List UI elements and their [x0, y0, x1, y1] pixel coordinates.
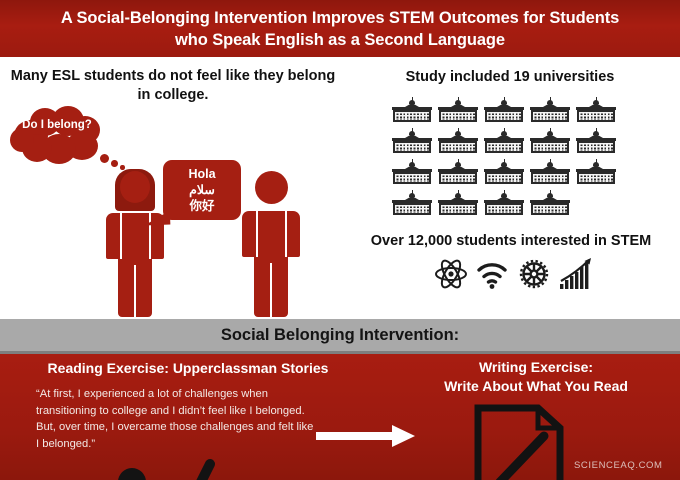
writing-exercise-title: Writing Exercise: Write About What You R… — [400, 358, 672, 396]
university-building-icon — [576, 128, 616, 154]
header-title-line-2: who Speak English as a Second Language — [175, 29, 505, 51]
university-building-icon — [530, 190, 570, 216]
figure-student-plain — [240, 171, 306, 319]
document-with-pencil-icon — [472, 404, 572, 480]
university-building-icon — [576, 159, 616, 185]
university-building-icon — [438, 190, 478, 216]
speech-line-hola: Hola — [163, 166, 241, 182]
intervention-band-title: Social Belonging Intervention: — [221, 326, 459, 345]
esl-heading: Many ESL students do not feel like they … — [8, 67, 338, 105]
gear-icon — [517, 257, 551, 291]
figure-student-with-hair — [104, 169, 170, 319]
university-building-icon — [392, 97, 432, 123]
right-arrow-icon — [316, 424, 416, 453]
universities-heading: Study included 19 universities — [348, 69, 672, 85]
stem-students-heading: Over 12,000 students interested in STEM — [344, 233, 678, 249]
reading-exercise-title: Reading Exercise: Upperclassman Stories — [18, 360, 358, 376]
thought-bubble: Do I belong? — [8, 104, 106, 166]
university-building-icon — [438, 128, 478, 154]
speech-bubble: Hola سلام 你好 — [163, 160, 241, 220]
university-building-icon — [484, 159, 524, 185]
upper-content-area: Many ESL students do not feel like they … — [0, 57, 680, 319]
infographic-canvas: A Social-Belonging Intervention Improves… — [0, 0, 680, 480]
university-building-icon — [576, 97, 616, 123]
header-title-line-1: A Social-Belonging Intervention Improves… — [61, 7, 619, 29]
university-building-icon — [438, 97, 478, 123]
university-building-icon — [392, 128, 432, 154]
university-building-icon — [530, 159, 570, 185]
header-banner: A Social-Belonging Intervention Improves… — [0, 0, 680, 57]
university-building-icon — [530, 97, 570, 123]
university-building-icon — [484, 97, 524, 123]
speech-line-chinese: 你好 — [163, 198, 241, 214]
reading-exercise-quote: “At first, I experienced a lot of challe… — [36, 386, 316, 452]
university-building-icon — [530, 128, 570, 154]
stem-icon-row — [434, 257, 594, 291]
intervention-band: Social Belonging Intervention: — [0, 319, 680, 351]
atom-icon — [434, 257, 468, 291]
watermark: SCIENCEAQ.COM — [574, 460, 663, 471]
wifi-icon — [475, 257, 509, 291]
bar-chart-growth-icon — [558, 257, 594, 291]
university-building-icon — [484, 128, 524, 154]
university-building-icon — [392, 159, 432, 185]
writing-title-line-1: Writing Exercise: — [400, 358, 672, 377]
pencil-graphic-partial — [112, 458, 222, 480]
speech-line-arabic: سلام — [163, 182, 241, 198]
university-icon-grid — [392, 97, 624, 216]
thought-bubble-text: Do I belong? — [8, 118, 106, 133]
university-building-icon — [438, 159, 478, 185]
university-building-icon — [484, 190, 524, 216]
writing-title-line-2: Write About What You Read — [400, 377, 672, 396]
university-building-icon — [392, 190, 432, 216]
